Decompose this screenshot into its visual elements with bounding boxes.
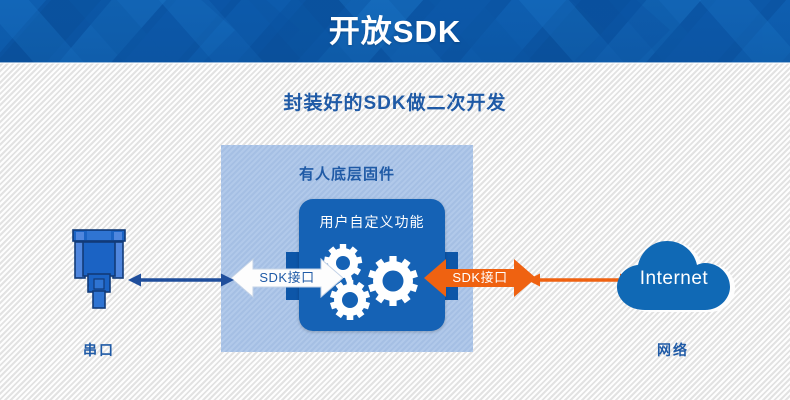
sdk-interface-arrow-left: SDK接口 xyxy=(231,257,343,299)
sdk-interface-label-right: SDK接口 xyxy=(424,257,536,299)
firmware-box-label: 有人底层固件 xyxy=(221,163,473,184)
connector-arrow-left xyxy=(128,270,234,290)
subtitle: 封装好的SDK做二次开发 xyxy=(0,88,790,115)
user-function-box-label: 用户自定义功能 xyxy=(299,212,445,232)
sdk-interface-arrow-right: SDK接口 xyxy=(424,257,536,299)
header-divider xyxy=(0,62,790,64)
serial-port-connector-icon xyxy=(66,228,132,312)
page-root: 开放SDK 封装好的SDK做二次开发 有人底层固件 用户自定义功能 xyxy=(0,0,790,400)
sdk-interface-label-left: SDK接口 xyxy=(231,257,343,299)
cloud-label: Internet xyxy=(609,268,739,290)
network-node-label: 网络 xyxy=(618,340,728,360)
page-header: 开放SDK xyxy=(0,0,790,63)
page-title: 开放SDK xyxy=(0,0,790,63)
serial-node-label: 串口 xyxy=(49,340,149,360)
